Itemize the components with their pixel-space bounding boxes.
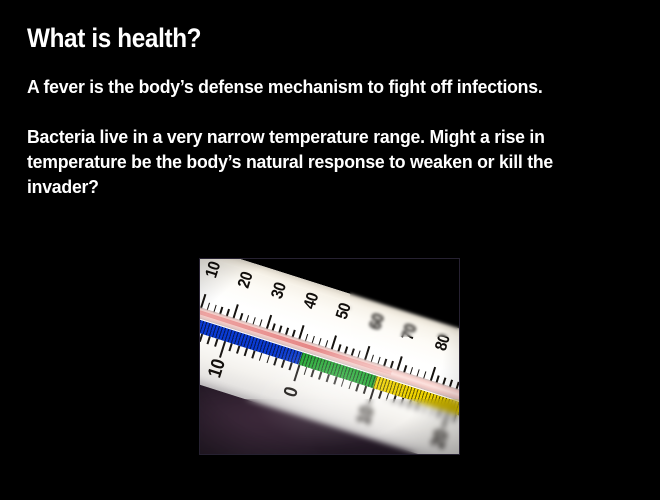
presentation-slide: What is health? A fever is the body’s de… xyxy=(0,0,660,500)
celsius-label: 10 xyxy=(352,402,377,429)
celsius-label: 0 xyxy=(279,383,301,400)
celsius-minor-tick xyxy=(325,374,329,382)
fahrenheit-label: 60 xyxy=(366,310,387,332)
fahrenheit-label: 50 xyxy=(333,300,354,322)
fahrenheit-label: 10 xyxy=(202,259,223,280)
celsius-minor-tick xyxy=(392,395,396,403)
paragraph-spacer xyxy=(27,99,627,124)
celsius-minor-tick xyxy=(251,350,255,358)
celsius-major-tick xyxy=(442,411,449,428)
celsius-minor-tick xyxy=(258,352,262,360)
fahrenheit-major-tick xyxy=(396,356,402,371)
celsius-major-tick xyxy=(218,340,225,357)
celsius-major-tick xyxy=(367,388,374,405)
fahrenheit-major-tick xyxy=(363,345,369,360)
celsius-minor-tick xyxy=(437,409,441,417)
celsius-minor-tick xyxy=(243,348,247,356)
celsius-minor-tick xyxy=(206,336,210,344)
celsius-minor-tick xyxy=(333,376,337,384)
fahrenheit-major-tick xyxy=(232,304,238,319)
slide-body-text: A fever is the body’s defense mechanism … xyxy=(27,74,627,199)
celsius-minor-tick xyxy=(415,402,419,410)
fahrenheit-major-tick xyxy=(429,366,435,381)
fahrenheit-label: 70 xyxy=(398,321,419,343)
celsius-minor-tick xyxy=(318,371,322,379)
page-title: What is health? xyxy=(27,22,567,54)
celsius-minor-tick xyxy=(303,366,307,374)
celsius-minor-tick xyxy=(236,345,240,353)
celsius-minor-tick xyxy=(200,333,203,341)
celsius-minor-tick xyxy=(400,397,404,405)
celsius-minor-tick xyxy=(377,390,381,398)
celsius-minor-tick xyxy=(228,343,232,351)
photo-canvas: 0102030405060708090100110 20100102030 xyxy=(200,259,459,454)
celsius-minor-tick xyxy=(452,414,456,422)
celsius-minor-tick xyxy=(407,400,411,408)
celsius-major-tick xyxy=(293,364,300,381)
fahrenheit-label: 20 xyxy=(235,269,256,291)
celsius-minor-tick xyxy=(430,407,434,415)
celsius-minor-tick xyxy=(348,381,352,389)
celsius-minor-tick xyxy=(340,378,344,386)
body-paragraph-2: Bacteria live in a very narrow temperatu… xyxy=(27,124,600,199)
celsius-minor-tick xyxy=(266,355,270,363)
fahrenheit-label: 30 xyxy=(267,279,288,301)
celsius-label: 20 xyxy=(427,425,452,452)
celsius-minor-tick xyxy=(273,357,277,365)
fahrenheit-major-tick xyxy=(200,293,206,308)
fahrenheit-label: 80 xyxy=(431,331,452,353)
celsius-minor-tick xyxy=(422,404,426,412)
fahrenheit-major-tick xyxy=(298,325,304,340)
celsius-minor-tick xyxy=(213,338,217,346)
celsius-minor-tick xyxy=(362,385,366,393)
celsius-label: 10 xyxy=(203,355,228,382)
celsius-minor-tick xyxy=(310,369,314,377)
celsius-minor-tick xyxy=(385,392,389,400)
celsius-minor-tick xyxy=(355,383,359,391)
thermometer-photo: 0102030405060708090100110 20100102030 xyxy=(200,259,459,454)
celsius-minor-tick xyxy=(288,362,292,370)
celsius-minor-tick xyxy=(280,359,284,367)
body-paragraph-1: A fever is the body’s defense mechanism … xyxy=(27,74,600,99)
fahrenheit-major-tick xyxy=(330,335,336,350)
fahrenheit-major-tick xyxy=(265,314,271,329)
fahrenheit-label: 40 xyxy=(300,289,321,311)
